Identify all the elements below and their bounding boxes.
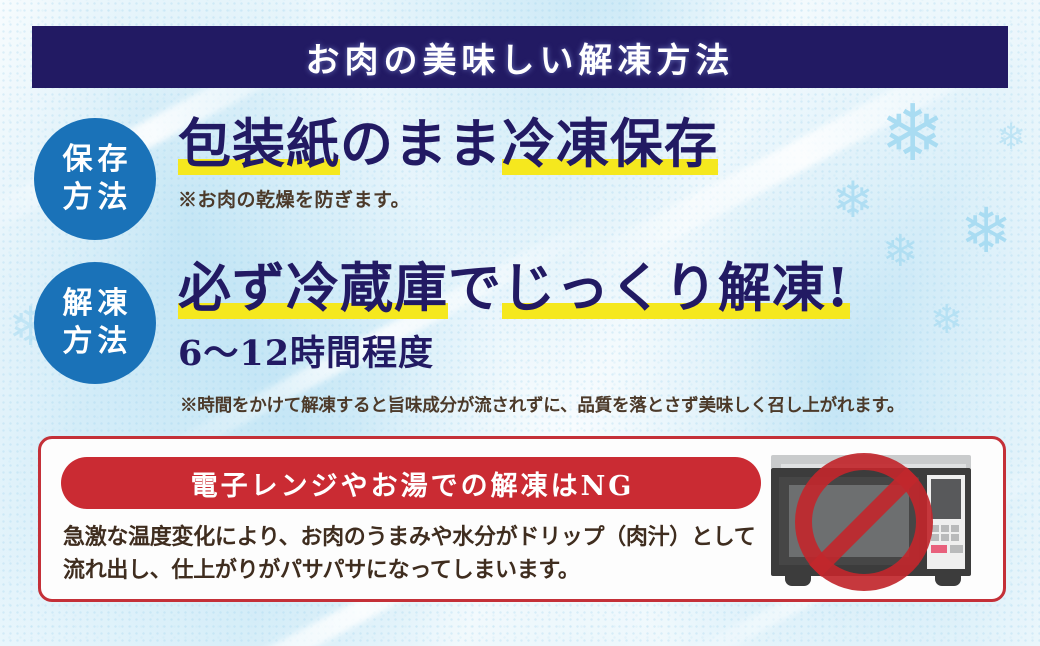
storage-headline-part-2: のまま — [340, 113, 502, 175]
snowflake-icon: ❄ — [882, 230, 919, 274]
microwave-foot — [935, 576, 961, 586]
microwave-keypad-button — [941, 534, 949, 541]
microwave-stop-button — [950, 545, 963, 553]
storage-note: ※お肉の乾燥を防ぎます。 — [178, 185, 718, 212]
snowflake-icon: ❄ — [930, 300, 964, 340]
thawing-body: 必ず冷蔵庫でじっくり解凍! 6〜12時間程度 — [156, 262, 850, 376]
badge-line-1: 保存 — [58, 141, 133, 179]
snowflake-icon: ❄ — [880, 95, 945, 173]
storage-body: 包装紙のまま冷凍保存 ※お肉の乾燥を防ぎます。 — [156, 118, 718, 212]
badge-line-2: 方法 — [58, 179, 133, 217]
snowflake-icon: ❄ — [832, 175, 874, 225]
badge-line-2: 方法 — [58, 323, 133, 361]
snowflake-icon: ❄ — [960, 200, 1012, 262]
microwave-keypad-button — [951, 534, 959, 541]
microwave-illustration — [763, 451, 985, 591]
thawing-headline-part-3: じっくり解凍! — [502, 257, 850, 319]
thawing-duration: 6〜12時間程度 — [178, 325, 850, 376]
warning-card: 電子レンジやお湯での解凍はNG 急激な温度変化により、お肉のうまみや水分がドリッ… — [38, 436, 1006, 602]
thawing-headline: 必ず冷蔵庫でじっくり解凍! — [178, 262, 850, 315]
storage-headline-part-3: 冷凍保存 — [502, 113, 718, 175]
page-title-bar: お肉の美味しい解凍方法 — [32, 26, 1008, 88]
microwave-keypad-button — [951, 525, 959, 532]
snowflake-icon: ❄ — [996, 120, 1026, 156]
ng-banner: 電子レンジやお湯での解凍はNG — [61, 457, 761, 509]
thawing-headline-part-1: 必ず冷蔵庫 — [178, 257, 448, 319]
warning-body-text: 急激な温度変化により、お肉のうまみや水分がドリップ（肉汁）として流れ出し、仕上が… — [63, 521, 763, 587]
page-title: お肉の美味しい解凍方法 — [306, 33, 735, 82]
microwave-keypad-button — [941, 525, 949, 532]
microwave-display-screen — [931, 479, 961, 519]
thawing-note: ※時間をかけて解凍すると旨味成分が流されずに、品質を落とさず美味しく召し上がれま… — [180, 392, 904, 417]
badge-storage-method: 保存 方法 — [34, 118, 156, 240]
ng-banner-label: 電子レンジやお湯での解凍はNG — [188, 464, 635, 503]
prohibition-icon — [795, 453, 933, 591]
storage-headline-part-1: 包装紙 — [178, 113, 340, 175]
section-storage-method: 保存 方法 包装紙のまま冷凍保存 ※お肉の乾燥を防ぎます。 — [34, 118, 718, 240]
microwave-start-button — [931, 545, 947, 553]
badge-line-1: 解凍 — [58, 285, 133, 323]
thawing-headline-part-2: で — [448, 257, 502, 319]
badge-thawing-method: 解凍 方法 — [34, 262, 156, 384]
storage-headline: 包装紙のまま冷凍保存 — [178, 118, 718, 171]
section-thawing-method: 解凍 方法 必ず冷蔵庫でじっくり解凍! 6〜12時間程度 — [34, 262, 850, 384]
